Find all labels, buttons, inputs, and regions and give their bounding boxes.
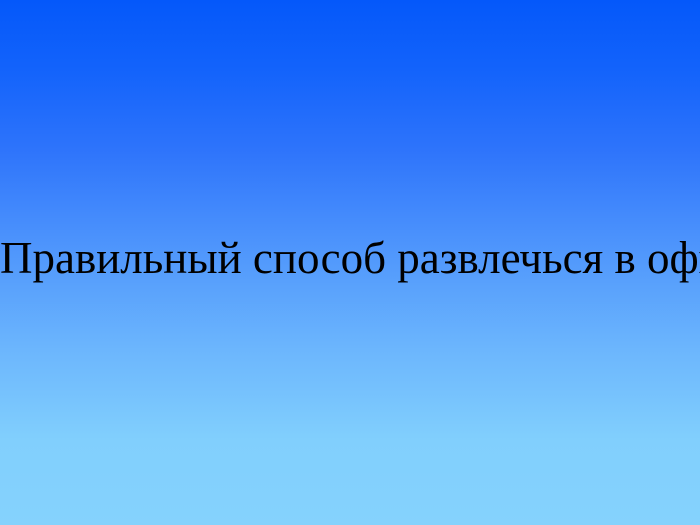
presentation-slide: Правильный способ развлечься в офисе: [0, 0, 700, 525]
slide-title: Правильный способ развлечься в офисе: [0, 235, 700, 282]
slide-content-area: Правильный способ развлечься в офисе: [0, 0, 700, 525]
title-placeholder[interactable]: Правильный способ развлечься в офисе: [0, 235, 700, 282]
